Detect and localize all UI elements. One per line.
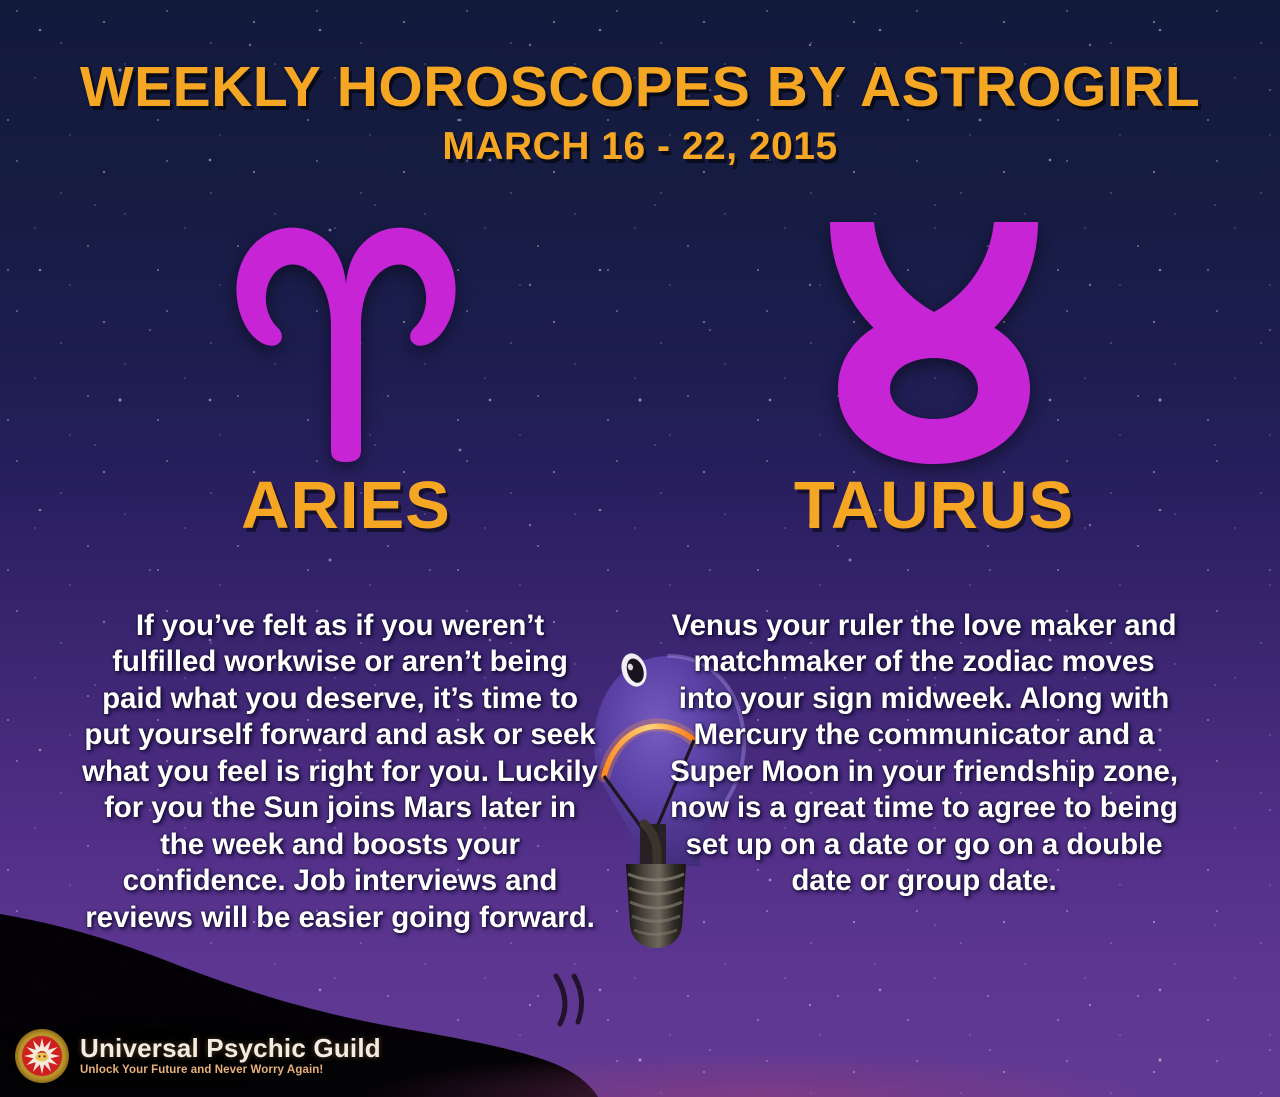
page-title: WEEKLY HOROSCOPES BY ASTROGIRL (0, 0, 1280, 116)
sun-emblem-icon (14, 1028, 70, 1084)
horoscope-text-aries: If you’ve felt as if you weren’t fulfill… (80, 608, 600, 937)
date-range-subtitle: MARCH 16 - 22, 2015 (0, 116, 1280, 168)
taurus-bull-glyph-icon (654, 206, 1214, 464)
logo-tagline: Unlock Your Future and Never Worry Again… (80, 1065, 381, 1077)
brand-logo[interactable]: Universal Psychic Guild Unlock Your Futu… (4, 1015, 424, 1097)
sign-column-aries: ARIES (66, 206, 626, 542)
logo-name: Universal Psychic Guild (80, 1035, 381, 1061)
horoscope-poster: WEEKLY HOROSCOPES BY ASTROGIRL MARCH 16 … (0, 0, 1280, 1097)
sign-name-aries: ARIES (66, 464, 626, 542)
aries-ram-glyph-icon (66, 206, 626, 464)
poster-header: WEEKLY HOROSCOPES BY ASTROGIRL MARCH 16 … (0, 0, 1280, 168)
logo-text-block: Universal Psychic Guild Unlock Your Futu… (80, 1035, 381, 1077)
sign-column-taurus: TAURUS (654, 206, 1214, 542)
sign-name-taurus: TAURUS (654, 464, 1214, 542)
horoscope-text-taurus: Venus your ruler the love maker and matc… (664, 608, 1184, 900)
